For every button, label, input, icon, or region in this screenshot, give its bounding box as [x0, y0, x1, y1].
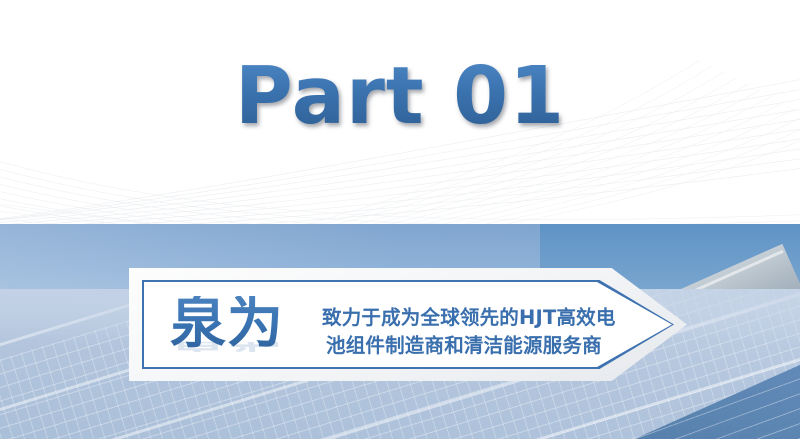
tagline-line-2: 池组件制造商和清洁能源服务商	[322, 332, 588, 360]
tagline-line-1: 致力于成为全球领先的HJT高效电	[322, 304, 588, 332]
brand-logo: 泉为	[170, 296, 284, 352]
banner-inner-fill: 泉为 泉为 致力于成为全球领先的HJT高效电 池组件制造商和清洁能源服务商	[144, 282, 672, 367]
title-section: Part 01	[0, 0, 800, 224]
arrow-banner: 泉为 泉为 致力于成为全球领先的HJT高效电 池组件制造商和清洁能源服务商	[129, 268, 687, 381]
company-tagline: 致力于成为全球领先的HJT高效电 池组件制造商和清洁能源服务商	[322, 304, 588, 359]
page-title: Part 01	[0, 57, 800, 136]
presentation-slide: Part 01 泉为 泉为 致力于成为全球领先的HJT高效电 池组件制造商和清洁…	[0, 0, 800, 439]
